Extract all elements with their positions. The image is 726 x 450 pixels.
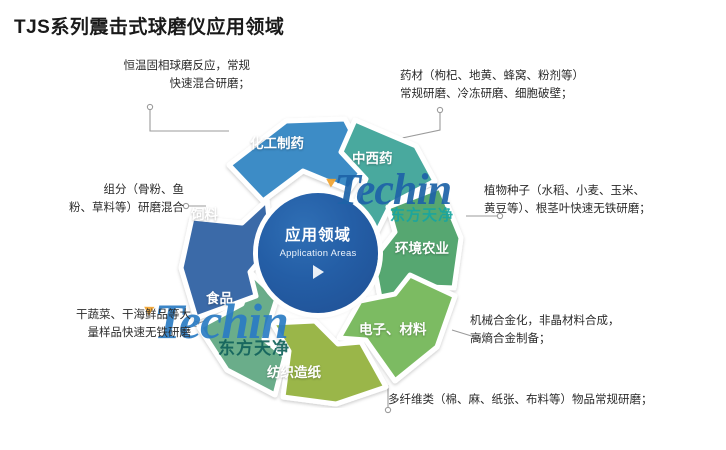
callout-food: 干蔬菜、干海鲜品等大 量样品快速无铁研磨: [6, 307, 191, 343]
center-hub[interactable]: 应用领域 Application Areas: [258, 193, 378, 313]
callout-feed: 组分（骨粉、鱼 粉、草料等）研磨混合: [6, 182, 184, 218]
callout-electronics-materials: 机械合金化，非晶材料合成， 高熵合金制备；: [470, 313, 620, 349]
callout-tcm-western-medicine: 药材（枸杞、地黄、蜂窝、粉剂等） 常规研磨、冷冻研磨、细胞破壁；: [400, 68, 584, 104]
page-title: TJS系列震击式球磨仪应用领域: [14, 12, 284, 39]
infographic-canvas: TJS系列震击式球磨仪应用领域: [0, 0, 726, 450]
play-triangle-icon: [313, 265, 324, 279]
hub-title-en: Application Areas: [280, 248, 357, 259]
leader-dot-chemical-pharma: [147, 104, 152, 109]
callout-chemical-pharma: 恒温固相球磨反应，常规 快速混合研磨；: [70, 58, 250, 94]
callout-environment-agriculture: 植物种子（水稻、小麦、玉米、 黄豆等）、根茎叶快速无铁研磨；: [484, 183, 651, 219]
callout-textile-papermaking: 多纤维类（棉、麻、纸张、布料等）物品常规研磨；: [388, 392, 653, 410]
hub-title-cn: 应用领域: [285, 227, 351, 244]
